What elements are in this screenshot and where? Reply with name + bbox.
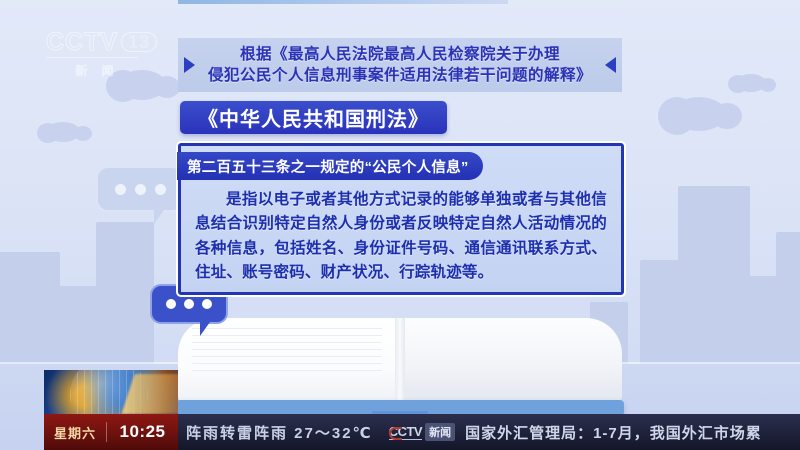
ticker-headline: 国家外汇管理局：1-7月，我国外汇市场累 — [465, 422, 800, 443]
cloud-icon — [736, 74, 766, 92]
book-page-right — [400, 318, 622, 402]
cloud-icon — [46, 122, 80, 142]
ticker-cctv-news-logo: CCTV 新闻 — [389, 423, 455, 441]
channel-logo-rule — [46, 57, 138, 58]
channel-logo-number: 13 — [121, 32, 157, 52]
clause-label-pill: 第二百五十三条之一规定的“公民个人信息” — [177, 152, 483, 180]
ticker-logo-cctv-text: CCTV — [389, 424, 422, 440]
top-accent-strip — [178, 0, 508, 4]
header-line-1: 根据《最高人民法院最高人民检察院关于办理 — [195, 44, 605, 65]
bubble-dots — [98, 168, 182, 210]
header-banner: 根据《最高人民法院最高人民检察院关于办理 侵犯公民个人信息刑事案件适用法律若干问… — [178, 38, 622, 92]
weather-label: 阵雨转雷阵雨 27～32℃ — [178, 422, 373, 443]
clause-body-text: 是指以电子或者其他方式记录的能够单独或者与其他信息结合识别特定自然人身份或者反映… — [195, 188, 607, 286]
law-title-pill: 《中华人民共和国刑法》 — [180, 101, 447, 134]
channel-logo-text: CCTV — [46, 28, 118, 56]
header-line-2: 侵犯公民个人信息刑事案件适用法律若干问题的解释》 — [195, 65, 605, 86]
open-book-graphic — [176, 316, 624, 416]
news-globe-graphic — [44, 370, 178, 414]
clock-label: 10:25 — [107, 422, 178, 442]
book-page-left — [178, 318, 400, 402]
speech-bubble-outline-icon — [96, 166, 184, 212]
broadcast-frame: CCTV13 新闻 根据《最高人民法院最高人民检察院关于办理 侵犯公民个人信息刑… — [0, 0, 800, 450]
channel-logo-subtitle: 新闻 — [46, 62, 157, 79]
header-title: 根据《最高人民法院最高人民检察院关于办理 侵犯公民个人信息刑事案件适用法律若干问… — [195, 44, 605, 87]
clause-card: 第二百五十三条之一规定的“公民个人信息” 是指以电子或者其他方式记录的能够单独或… — [178, 143, 624, 295]
building-silhouette — [678, 186, 750, 372]
book-spine — [395, 318, 405, 402]
cloud-icon — [672, 97, 726, 131]
building-silhouette — [96, 222, 154, 372]
weekday-label: 星期六 — [44, 423, 106, 442]
triangle-left-icon — [605, 57, 616, 73]
ticker-logo-news-text: 新闻 — [425, 423, 455, 441]
channel-logo: CCTV13 新闻 — [46, 30, 157, 79]
building-silhouette — [776, 232, 800, 372]
news-ticker: 阵雨转雷阵雨 27～32℃ CCTV 新闻 国家外汇管理局：1-7月，我国外汇市… — [178, 414, 800, 450]
datetime-bar: 星期六 10:25 — [44, 414, 178, 450]
building-silhouette — [0, 252, 60, 372]
book-page-lines — [192, 322, 382, 376]
triangle-right-icon — [184, 57, 195, 73]
